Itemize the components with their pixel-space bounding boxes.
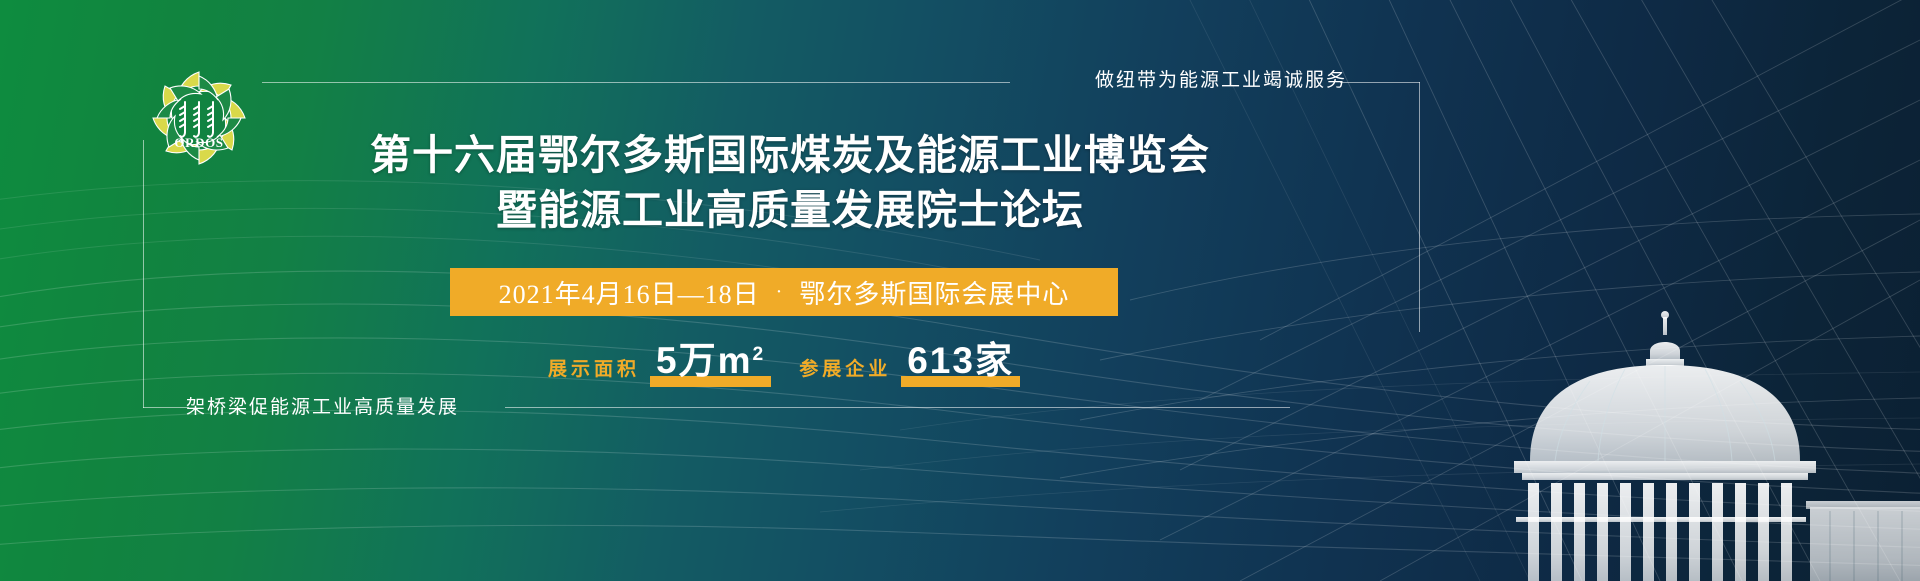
title-line-1: 第十六届鄂尔多斯国际煤炭及能源工业博览会 — [330, 128, 1250, 183]
frame-rule-top-left — [262, 82, 1010, 83]
stat-superscript-area: 2 — [753, 344, 766, 365]
tagline-bottom-left: 架桥梁促能源工业高质量发展 — [186, 392, 459, 419]
frame-rule-bottom-left — [143, 407, 189, 408]
exhibition-banner: ORDOS 第十六届鄂尔多斯国际煤炭及能源工业博览会 暨能源工业高质量发展院士论… — [0, 0, 1920, 581]
stats-row: 展示面积 5万m2 参展企业 613家 — [450, 330, 1118, 387]
event-date-venue-bar: 2021年4月16日—18日 · 鄂尔多斯国际会展中心 — [450, 268, 1118, 316]
stat-label-area: 展示面积 — [548, 354, 640, 387]
event-date: 2021年4月16日—18日 — [499, 274, 760, 311]
headline-block: 第十六届鄂尔多斯国际煤炭及能源工业博览会 暨能源工业高质量发展院士论坛 — [330, 128, 1250, 238]
logo-wordmark: ORDOS — [174, 135, 223, 150]
frame-rule-right-vertical — [1419, 82, 1420, 332]
stat-number-area: 5万m — [656, 340, 752, 381]
stat-exhibitor-count: 参展企业 613家 — [799, 330, 1020, 387]
stat-value-exhibitors: 613家 — [901, 330, 1020, 387]
stat-label-exhibitors: 参展企业 — [799, 354, 891, 387]
tagline-top-right: 做纽带为能源工业竭诚服务 — [1095, 65, 1347, 92]
stat-value-area: 5万m2 — [650, 330, 771, 387]
convention-center-dome-illustration — [1410, 311, 1920, 581]
ordos-pinwheel-logo: ORDOS — [143, 62, 255, 174]
stat-number-exhibitors: 613家 — [907, 340, 1014, 381]
event-venue: 鄂尔多斯国际会展中心 — [799, 274, 1069, 311]
frame-rule-bottom-right — [505, 407, 1290, 408]
frame-rule-top-right — [1340, 82, 1420, 83]
frame-rule-left-vertical — [143, 140, 144, 408]
title-line-2: 暨能源工业高质量发展院士论坛 — [330, 183, 1250, 238]
stat-exhibition-area: 展示面积 5万m2 — [548, 330, 771, 387]
event-separator: · — [760, 281, 800, 304]
